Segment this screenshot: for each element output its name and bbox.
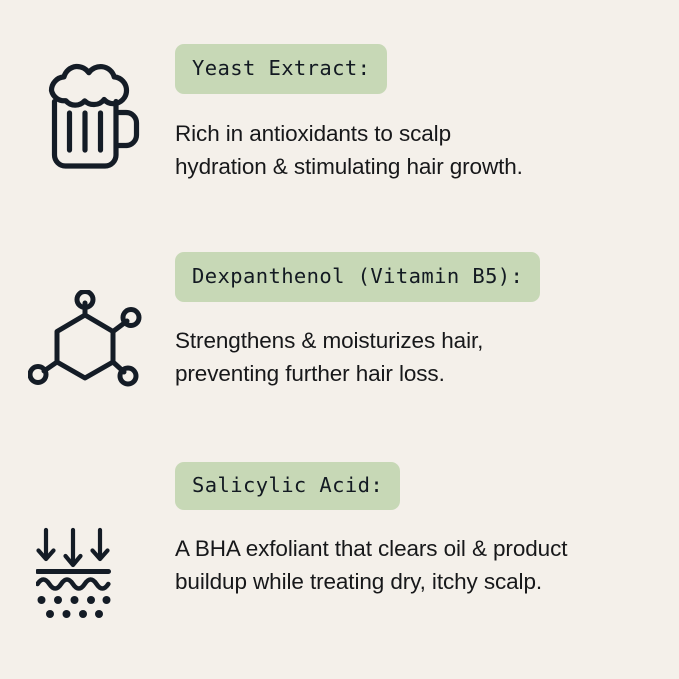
feature-text-dexpanthenol: Dexpanthenol (Vitamin B5): Strengthens &… — [175, 252, 679, 390]
feature-description: Rich in antioxidants to scalp hydration … — [175, 117, 523, 183]
feature-text-salicylic-acid: Salicylic Acid: A BHA exfoliant that cle… — [175, 462, 679, 598]
beer-mug-icon-container — [0, 44, 175, 176]
feature-text-yeast-extract: Yeast Extract: Rich in antioxidants to s… — [175, 44, 679, 183]
feature-description: A BHA exfoliant that clears oil & produc… — [175, 532, 567, 598]
feature-title-badge: Yeast Extract: — [175, 44, 387, 94]
feature-row-yeast-extract: Yeast Extract: Rich in antioxidants to s… — [0, 44, 679, 252]
molecule-icon — [28, 290, 146, 388]
scalp-exfoliant-icon-container — [0, 462, 175, 619]
feature-title-badge: Dexpanthenol (Vitamin B5): — [175, 252, 540, 302]
molecule-icon-container — [0, 252, 175, 388]
feature-description: Strengthens & moisturizes hair, preventi… — [175, 324, 483, 390]
beer-mug-icon — [36, 60, 140, 176]
feature-title-badge: Salicylic Acid: — [175, 462, 400, 510]
ingredients-infographic: Yeast Extract: Rich in antioxidants to s… — [0, 0, 679, 679]
feature-row-salicylic-acid: Salicylic Acid: A BHA exfoliant that cle… — [0, 462, 679, 662]
feature-row-dexpanthenol: Dexpanthenol (Vitamin B5): Strengthens &… — [0, 252, 679, 462]
scalp-exfoliant-icon — [36, 524, 126, 619]
